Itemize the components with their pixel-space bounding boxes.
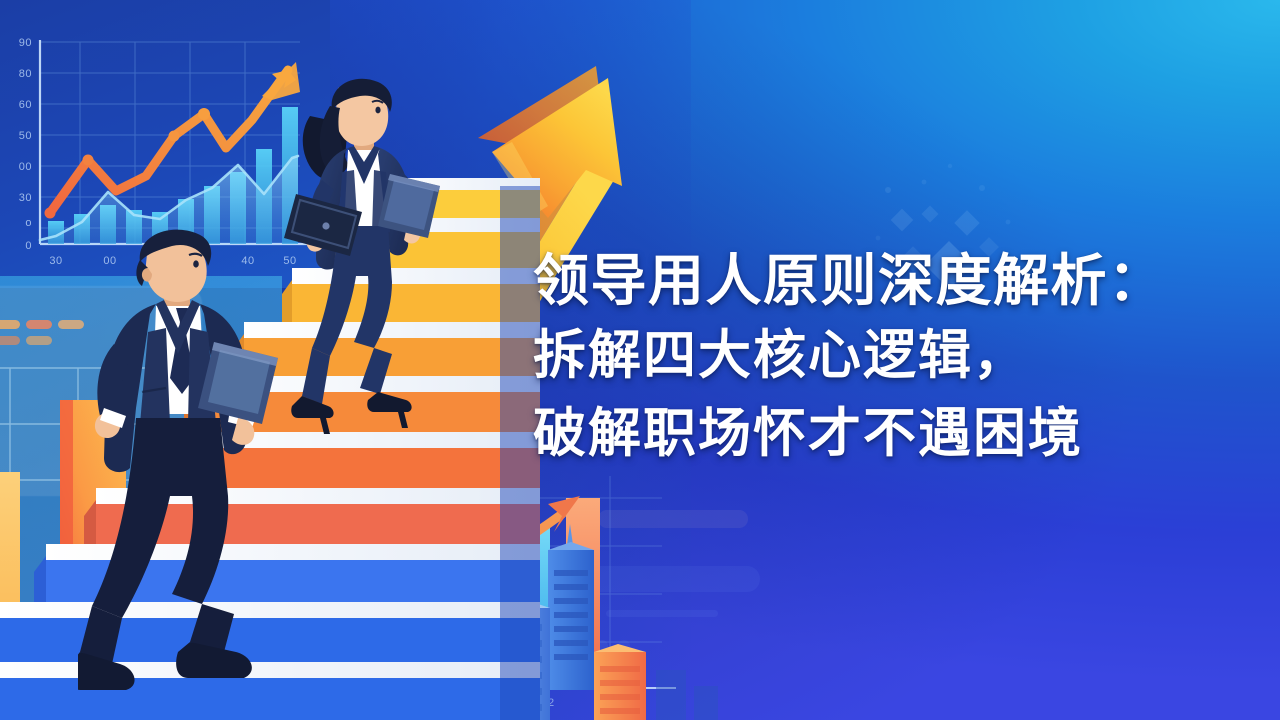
y-axis-tick: 90 — [19, 37, 32, 49]
y-axis-tick: 80 — [19, 68, 32, 80]
shoe-front — [176, 642, 252, 678]
businessman-climbing-stairs — [78, 228, 318, 720]
eye — [375, 107, 380, 114]
title-line-2: 拆解四大核心逻辑， — [533, 318, 1243, 394]
building-distant — [656, 670, 718, 720]
building-orange — [594, 644, 646, 720]
title-line-3: 破解职场怀才不遇困境 — [533, 396, 1243, 472]
y-axis-tick: 60 — [19, 99, 32, 111]
chart-point — [198, 108, 210, 120]
poster-canvas: 90 80 60 50 00 30 o 0 30 00 20 40 50 — [0, 0, 1280, 720]
building-tall — [548, 524, 594, 690]
eye — [193, 260, 199, 267]
man-svg — [78, 228, 318, 720]
shoe-front — [367, 392, 411, 428]
title-line-1: 领导用人原则深度解析： — [533, 246, 1243, 316]
leg-front — [360, 348, 392, 394]
poster-title: 领导用人原则深度解析： 拆解四大核心逻辑， 破解职场怀才不遇困境 — [533, 246, 1243, 472]
